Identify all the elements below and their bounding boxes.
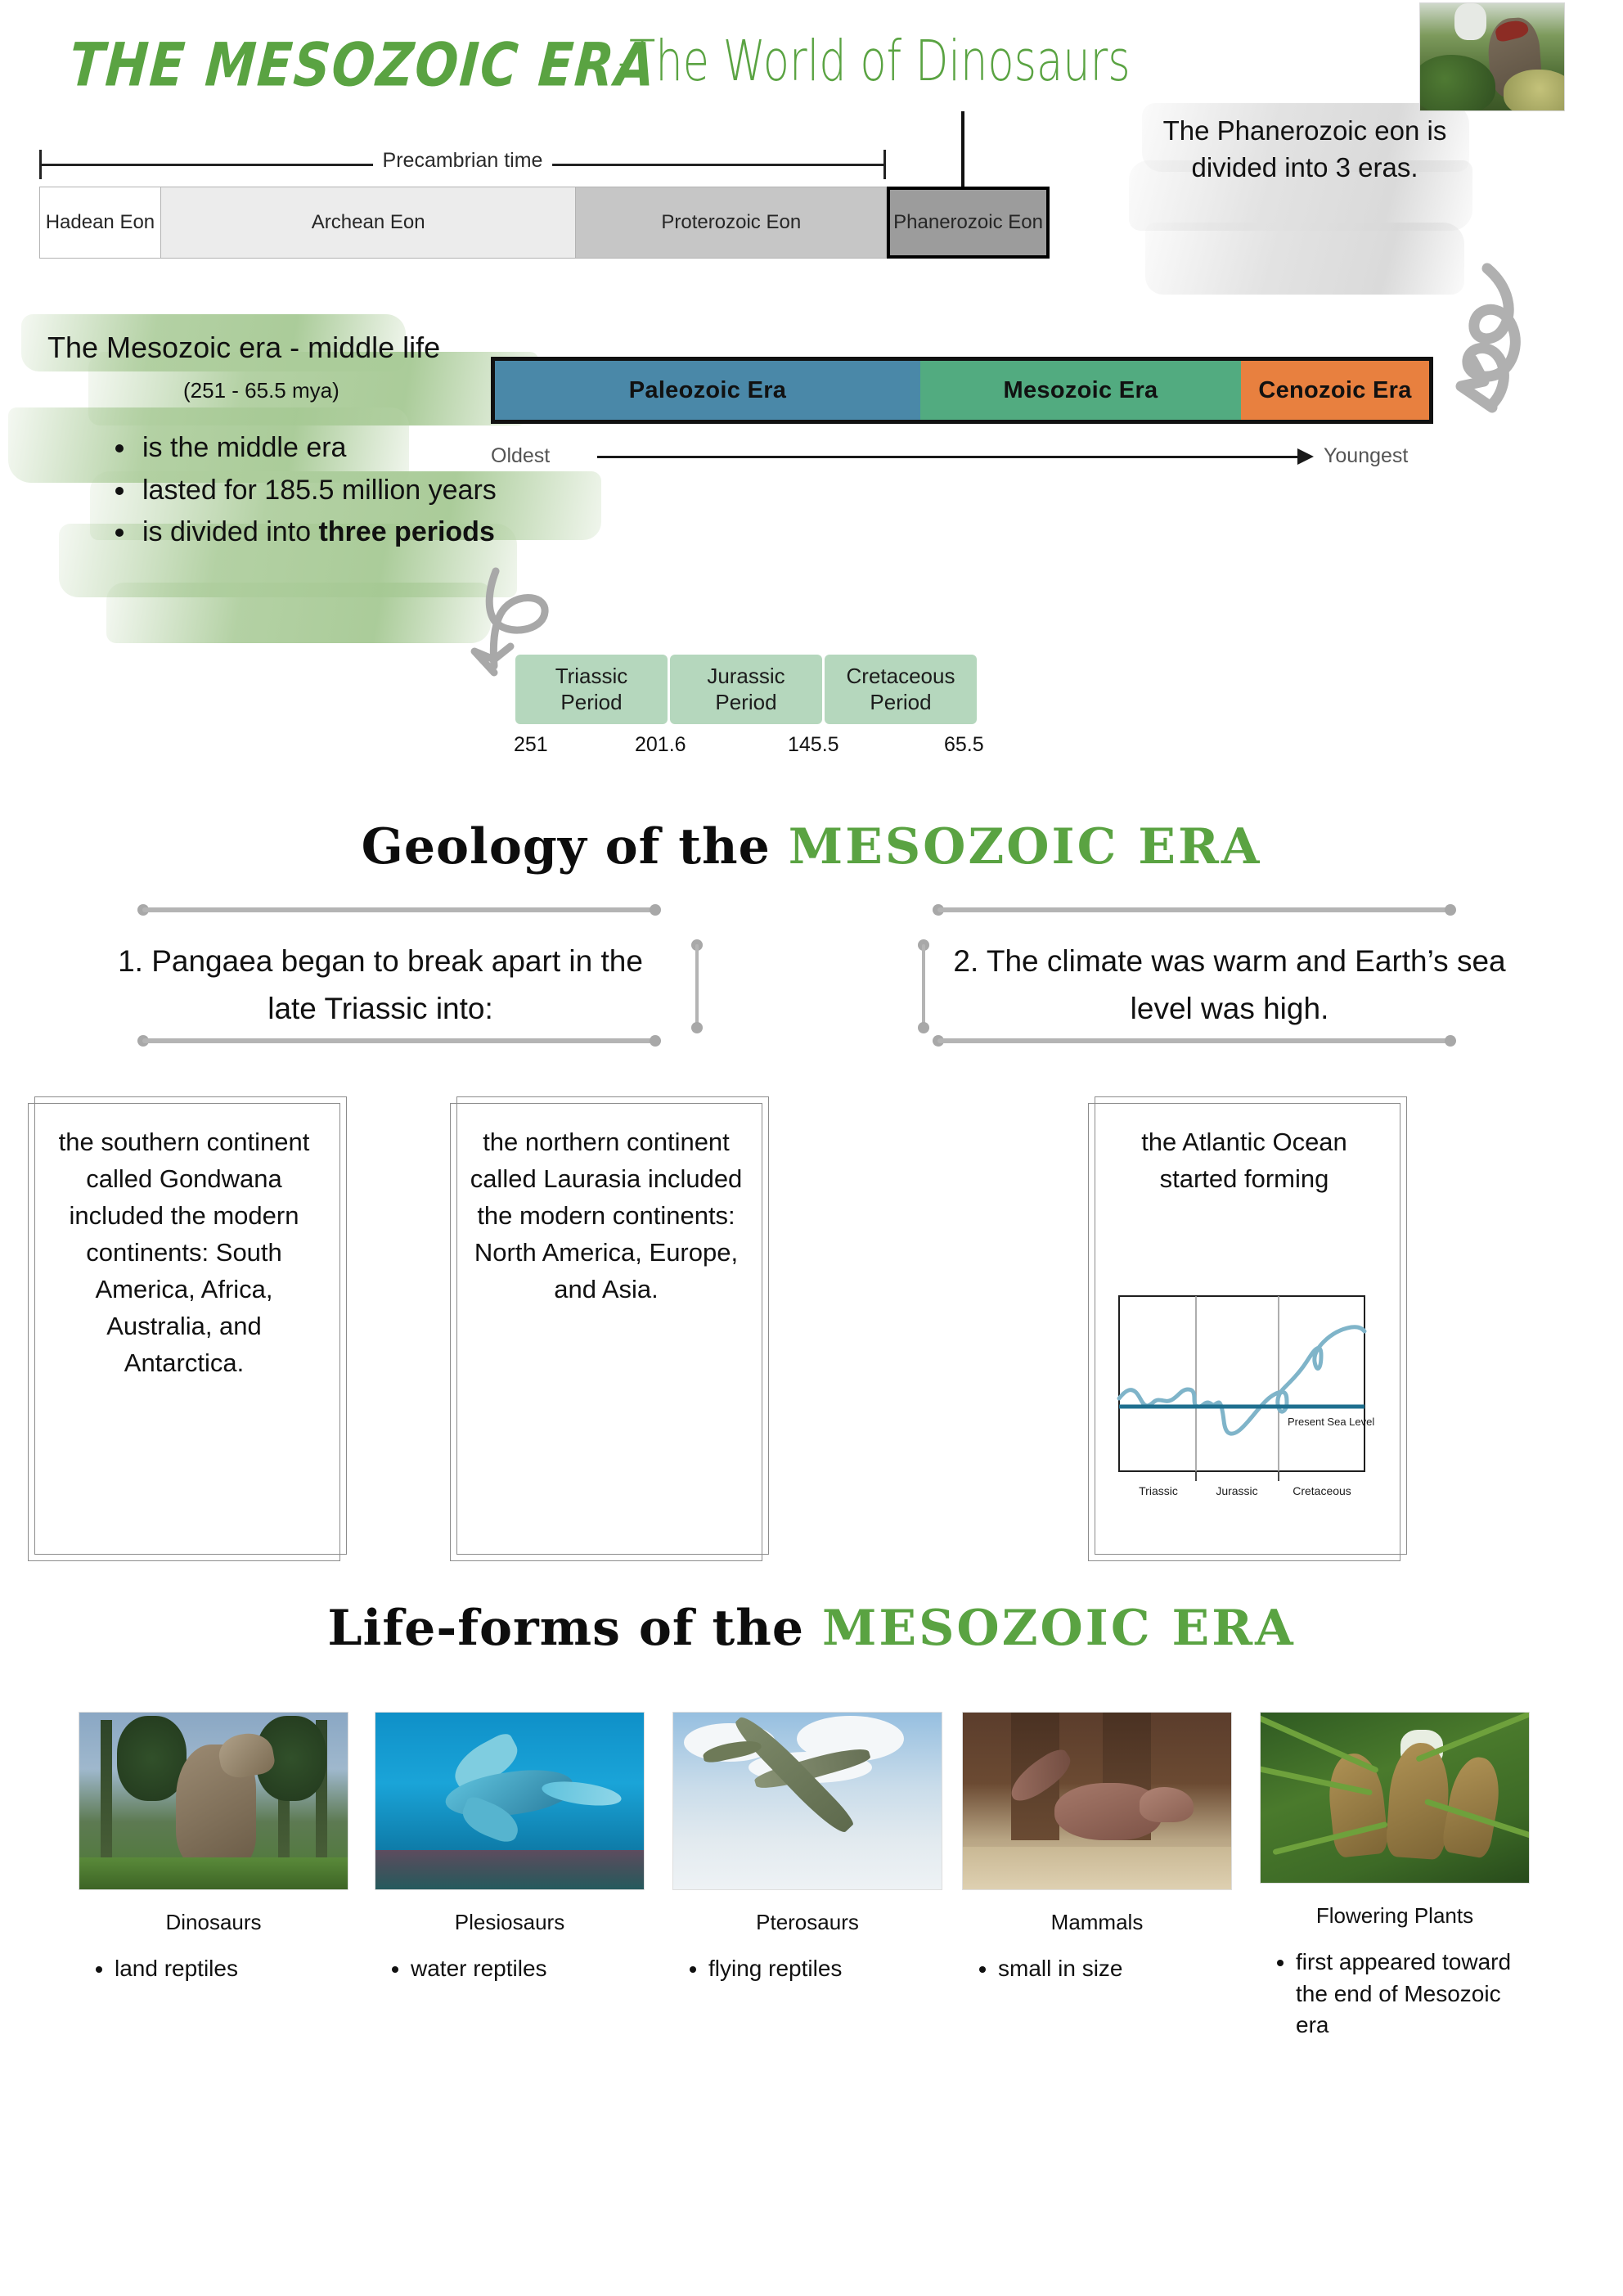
lifeform-caption: Pterosaurs xyxy=(672,1910,942,1935)
list-item-prefix: is divided into xyxy=(142,516,318,547)
list-item: lasted for 185.5 million years xyxy=(137,470,497,512)
lifeforms-section-heading: Life-forms of the MESOZOIC ERA xyxy=(0,1600,1623,1657)
era-age-axis: Oldest Youngest xyxy=(491,442,1433,475)
pterosaur-photo xyxy=(672,1712,942,1890)
divider-bar xyxy=(922,944,925,1029)
geology-point-2: 2. The climate was warm and Earth’s sea … xyxy=(939,938,1520,1033)
divider-bar xyxy=(937,907,1451,912)
divider-bar xyxy=(142,1038,656,1043)
divider-vertical xyxy=(691,939,703,1033)
list-item: first appeared toward the end of Mesozoi… xyxy=(1296,1947,1530,2042)
axis-label-youngest: Youngest xyxy=(1324,444,1408,468)
trex-photo xyxy=(1419,2,1565,111)
lifeform-bullets: flying reptiles xyxy=(672,1953,942,1985)
heading-green-part: MESOZOIC ERA xyxy=(822,1600,1296,1657)
photo-sky xyxy=(1454,3,1486,40)
divider-dot-icon xyxy=(650,1035,661,1047)
phanerozoic-callout-text: The Phanerozoic eon is divided into 3 er… xyxy=(1145,113,1464,186)
mesozoic-intro-heading: The Mesozoic era - middle life xyxy=(47,331,440,365)
divider-vertical xyxy=(918,939,929,1033)
lifeform-caption: Dinosaurs xyxy=(79,1910,348,1935)
lifeform-bullets: first appeared toward the end of Mesozoi… xyxy=(1260,1947,1530,2042)
photo-grass xyxy=(79,1857,348,1889)
divider-bar xyxy=(695,944,699,1029)
lifeform-card-plesiosaurs: Plesiosaurs water reptiles xyxy=(375,1712,645,1987)
lifeform-caption: Mammals xyxy=(962,1910,1232,1935)
precambrian-span: Precambrian time xyxy=(39,147,886,182)
heading-green-part: MESOZOIC ERA xyxy=(789,818,1262,876)
chart-xtick-triassic: Triassic xyxy=(1139,1484,1178,1497)
eon-cell-proterozoic: Proterozoic Eon xyxy=(576,187,887,258)
period-cell-cretaceous: CretaceousPeriod xyxy=(825,655,977,724)
eon-row: Hadean Eon Archean Eon Proterozoic Eon P… xyxy=(39,187,1050,259)
flowering-plant-photo xyxy=(1260,1712,1530,1884)
dinosaur-photo xyxy=(79,1712,348,1890)
geology-box-gondwana: the southern continent called Gondwana i… xyxy=(28,1103,340,1561)
plesiosaur-photo xyxy=(375,1712,645,1890)
mesozoic-periods-chart: TriassicPeriod JurassicPeriod Cretaceous… xyxy=(515,655,1039,777)
lifeform-bullets: small in size xyxy=(962,1953,1232,1985)
period-unit: Period xyxy=(870,690,931,714)
heading-black-part: Life-forms of the xyxy=(327,1600,822,1657)
precambrian-label: Precambrian time xyxy=(373,149,553,173)
lifeform-card-mammals: Mammals small in size xyxy=(962,1712,1232,1987)
era-cell-mesozoic: Mesozoic Era xyxy=(920,361,1241,420)
period-unit: Period xyxy=(560,690,622,714)
list-item: water reptiles xyxy=(411,1953,645,1985)
list-item: is the middle era xyxy=(137,427,497,470)
axis-line xyxy=(597,456,1301,458)
page-subtitle: -The World of Dinosaurs xyxy=(618,29,1131,94)
list-item: is divided into three periods xyxy=(137,511,497,554)
photo-cone xyxy=(1325,1751,1389,1858)
period-date: 251 xyxy=(514,733,548,757)
geology-section-heading: Geology of the MESOZOIC ERA xyxy=(0,818,1623,876)
photo-frond xyxy=(1260,1712,1379,1774)
era-timescale: Paleozoic Era Mesozoic Era Cenozoic Era … xyxy=(491,344,1440,491)
photo-plesiosaur-neck xyxy=(541,1778,623,1810)
period-date: 145.5 xyxy=(788,733,839,757)
sea-level-chart: Present Sea Level Triassic Jurassic Cret… xyxy=(1109,1291,1379,1512)
axis-arrow-icon xyxy=(1297,448,1314,465)
span-cap-right xyxy=(883,150,886,179)
lifeform-bullets: water reptiles xyxy=(375,1953,645,1985)
chart-xtick-jurassic: Jurassic xyxy=(1216,1484,1257,1497)
box-text: the southern continent called Gondwana i… xyxy=(46,1124,322,1382)
lifeform-card-dinosaurs: Dinosaurs land reptiles xyxy=(79,1712,348,1987)
photo-foliage-left xyxy=(1419,55,1495,111)
present-sea-level-label: Present Sea Level xyxy=(1288,1416,1374,1428)
chart-xtick-cretaceous: Cretaceous xyxy=(1293,1484,1351,1497)
divider-dot-icon xyxy=(650,904,661,916)
list-item: land reptiles xyxy=(115,1953,348,1985)
mesozoic-mya-range: (251 - 65.5 mya) xyxy=(183,378,339,403)
photo-foliage-right xyxy=(1504,70,1565,111)
gray-highlight-stroke xyxy=(1145,223,1464,295)
box-text: the northern continent called Laurasia i… xyxy=(468,1124,744,1308)
curly-arrow-down-right-icon xyxy=(1423,262,1546,438)
divider-dot-icon xyxy=(691,1022,703,1033)
period-name: Jurassic xyxy=(707,664,785,688)
divider-horizontal xyxy=(137,1035,661,1047)
eon-cell-archean: Archean Eon xyxy=(161,187,577,258)
era-cell-cenozoic: Cenozoic Era xyxy=(1241,361,1429,420)
divider-horizontal xyxy=(933,1035,1456,1047)
axis-label-oldest: Oldest xyxy=(491,444,550,468)
divider-bar xyxy=(142,907,656,912)
green-highlight-stroke xyxy=(106,583,491,643)
divider-horizontal xyxy=(933,904,1456,916)
eon-cell-phanerozoic: Phanerozoic Eon xyxy=(887,187,1050,259)
photo-mammal-head xyxy=(1140,1787,1194,1822)
mammal-photo xyxy=(962,1712,1232,1890)
divider-dot-icon xyxy=(1445,1035,1456,1047)
era-cell-paleozoic: Paleozoic Era xyxy=(495,361,920,420)
eon-timescale: Precambrian time Hadean Eon Archean Eon … xyxy=(33,147,1047,266)
period-cell-jurassic: JurassicPeriod xyxy=(670,655,822,724)
divider-horizontal xyxy=(137,904,661,916)
period-date: 201.6 xyxy=(635,733,686,757)
era-row: Paleozoic Era Mesozoic Era Cenozoic Era xyxy=(491,357,1433,424)
geology-box-atlantic: the Atlantic Ocean started forming Prese… xyxy=(1088,1103,1400,1561)
photo-reef xyxy=(375,1850,644,1889)
lifeform-caption: Plesiosaurs xyxy=(375,1910,645,1935)
list-item-emphasis: three periods xyxy=(318,516,494,547)
lifeform-card-flowering-plants: Flowering Plants first appeared toward t… xyxy=(1260,1712,1530,2043)
list-item: small in size xyxy=(998,1953,1232,1985)
geology-box-laurasia: the northern continent called Laurasia i… xyxy=(450,1103,762,1561)
list-item: flying reptiles xyxy=(708,1953,942,1985)
lifeform-card-pterosaurs: Pterosaurs flying reptiles xyxy=(672,1712,942,1987)
page-title: THE MESOZOIC ERA xyxy=(67,29,659,100)
eon-cell-hadean: Hadean Eon xyxy=(40,187,161,258)
lifeform-bullets: land reptiles xyxy=(79,1953,348,1985)
divider-dot-icon xyxy=(1445,904,1456,916)
divider-bar xyxy=(937,1038,1451,1043)
period-name: Triassic xyxy=(555,664,628,688)
mesozoic-bullet-list: is the middle era lasted for 185.5 milli… xyxy=(106,427,497,554)
photo-tree xyxy=(101,1720,112,1872)
divider-dot-icon xyxy=(918,1022,929,1033)
box-text: the Atlantic Ocean started forming xyxy=(1106,1124,1382,1198)
periods-row: TriassicPeriod JurassicPeriod Cretaceous… xyxy=(515,655,1039,724)
span-cap-left xyxy=(39,150,42,179)
period-unit: Period xyxy=(715,690,776,714)
period-name: Cretaceous xyxy=(847,664,955,688)
period-cell-triassic: TriassicPeriod xyxy=(515,655,668,724)
page-header: THE MESOZOIC ERA -The World of Dinosaurs xyxy=(0,0,1623,123)
geology-point-1: 1. Pangaea began to break apart in the l… xyxy=(90,938,671,1033)
lifeforms-row: Dinosaurs land reptiles Plesiosaurs wate… xyxy=(64,1712,1569,2170)
lifeform-caption: Flowering Plants xyxy=(1260,1903,1530,1929)
period-date: 65.5 xyxy=(944,733,984,757)
heading-black-part: Geology of the xyxy=(362,818,789,876)
photo-ground xyxy=(963,1847,1231,1889)
